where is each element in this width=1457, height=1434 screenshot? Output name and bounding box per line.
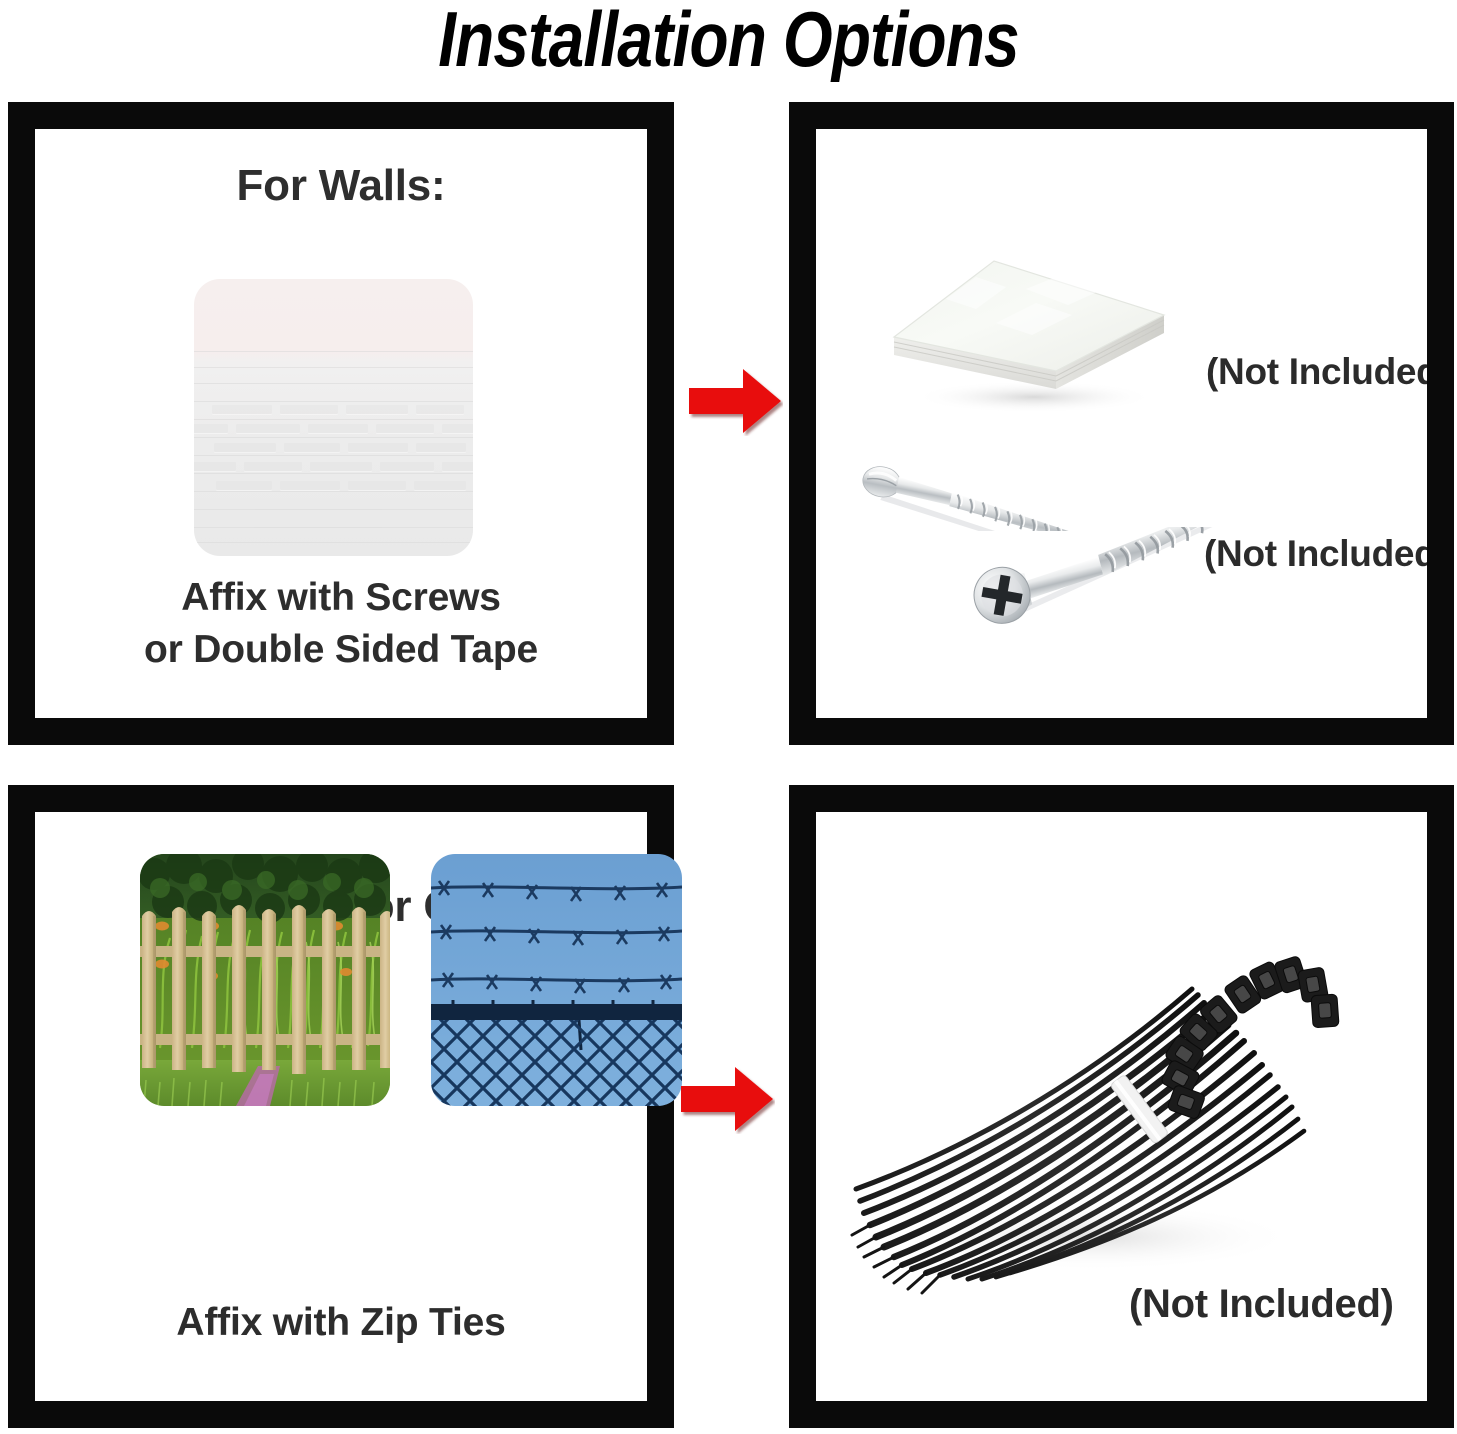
page-title: Installation Options [131, 0, 1326, 85]
red-right-arrow-icon-bottom [679, 1064, 775, 1134]
white-brick-wall-image [194, 279, 473, 556]
double-sided-tape-stack-image [876, 237, 1186, 422]
panel-walls-caption-line1: Affix with Screws [35, 572, 647, 624]
panel-fence-caption: Affix with Zip Ties [35, 1297, 647, 1349]
panel-walls-caption-line2: or Double Sided Tape [35, 624, 647, 676]
chain-link-fence-barbed-wire-image [431, 854, 682, 1106]
black-zip-ties-bundle-image [846, 907, 1346, 1307]
red-right-arrow-icon-top [687, 366, 783, 436]
installation-options-infographic: Installation Options For Walls: [0, 0, 1457, 1434]
wooden-picket-fence-image [140, 854, 390, 1106]
screws-not-included-label: (Not Included) [1204, 533, 1427, 575]
panel-walls-title: For Walls: [35, 161, 647, 211]
zipties-not-included-label: (Not Included) [1129, 1282, 1394, 1327]
wood-screw-upper-image [858, 461, 1168, 531]
panel-hardware: (Not Included) [789, 102, 1454, 745]
panel-for-walls: For Walls: [8, 102, 674, 745]
panel-walls-caption: Affix with Screws or Double Sided Tape [35, 572, 647, 676]
panel-zip-ties: (Not Included) [789, 785, 1454, 1428]
tape-not-included-label: (Not Included) [1206, 351, 1427, 393]
